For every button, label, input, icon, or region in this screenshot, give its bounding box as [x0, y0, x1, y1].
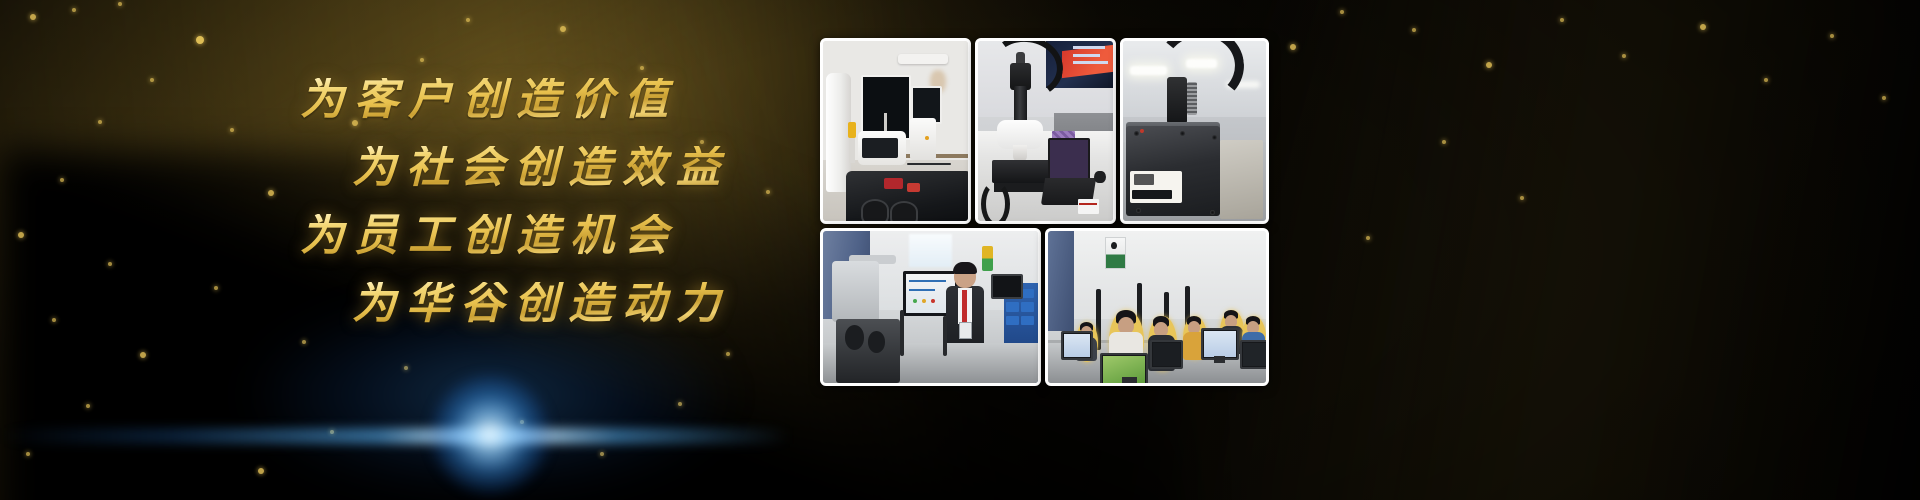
engineer-figure	[952, 264, 982, 352]
slogan-line-4: 为华谷创造动力	[352, 282, 770, 326]
photo-office-workstations[interactable]	[1045, 228, 1269, 386]
equipment-photo-grid	[820, 38, 1270, 380]
photo-laser-workstation[interactable]	[820, 38, 971, 224]
photo-5-scene	[1048, 231, 1266, 383]
slogan-line-1: 为客户创造价值	[300, 78, 770, 122]
photo-wp-uc600-device[interactable]	[1120, 38, 1269, 224]
photo-microscope-laptop[interactable]	[975, 38, 1116, 224]
slogan-line-3: 为员工创造机会	[300, 214, 770, 258]
photo-1-scene	[823, 41, 968, 221]
slogan-line-2: 为社会创造效益	[352, 146, 770, 190]
photo-engineer-lab[interactable]	[820, 228, 1041, 386]
photo-3-scene	[1123, 41, 1266, 221]
photo-2-scene	[978, 41, 1113, 221]
values-slogan-block: 为客户创造价值 为社会创造效益 为员工创造机会 为华谷创造动力	[300, 78, 770, 350]
values-banner: 为客户创造价值 为社会创造效益 为员工创造机会 为华谷创造动力	[0, 0, 1920, 500]
photo-4-scene	[823, 231, 1038, 383]
